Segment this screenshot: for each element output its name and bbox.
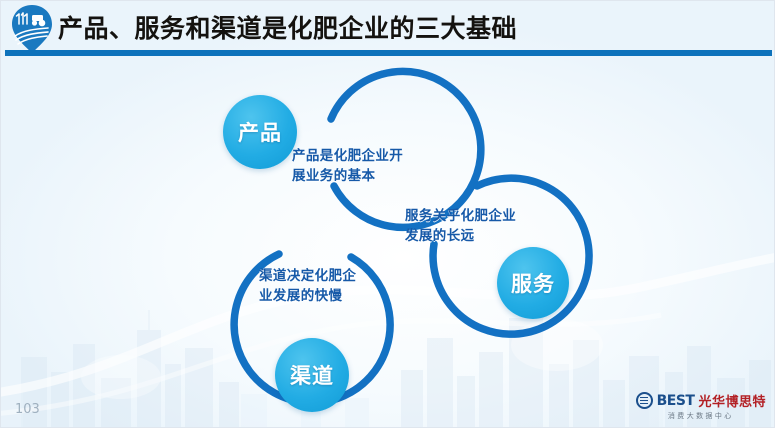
badge-channel-label: 渠道 [290,360,334,390]
brand-chinese-name: 光华博思特 [698,391,766,410]
slide-canvas: 产品、服务和渠道是化肥企业的三大基础 产品 服务 渠道 产品是化肥企业开展业务的… [0,0,775,428]
brand-latin-name: BEST [657,393,695,409]
page-number: 103 [15,402,40,417]
slide-header: 产品、服务和渠道是化肥企业的三大基础 [1,1,775,57]
page-title: 产品、服务和渠道是化肥企业的三大基础 [58,9,517,45]
blurb-service: 服务关乎化肥企业发展的长远 [405,206,521,246]
badge-service[interactable]: 服务 [497,247,569,319]
badge-product[interactable]: 产品 [223,95,297,169]
badge-channel[interactable]: 渠道 [275,338,349,412]
best-circle-e-icon [636,392,653,409]
badge-product-label: 产品 [238,117,282,147]
brand-logo: BEST 光华博思特 消费大数据中心 [636,391,766,421]
badge-service-label: 服务 [511,268,555,298]
agriculture-map-pin-icon [10,4,54,54]
brand-subtitle: 消费大数据中心 [668,411,734,421]
blurb-product: 产品是化肥企业开展业务的基本 [292,146,404,186]
brand-logo-row: BEST 光华博思特 [636,391,766,410]
blurb-channel: 渠道决定化肥企业发展的快慢 [259,266,369,306]
ring-arcs-group [1,1,775,428]
three-ring-diagram: 产品 服务 渠道 产品是化肥企业开展业务的基本 服务关乎化肥企业发展的长远 渠道… [1,1,775,428]
title-underline-rule [5,50,772,56]
